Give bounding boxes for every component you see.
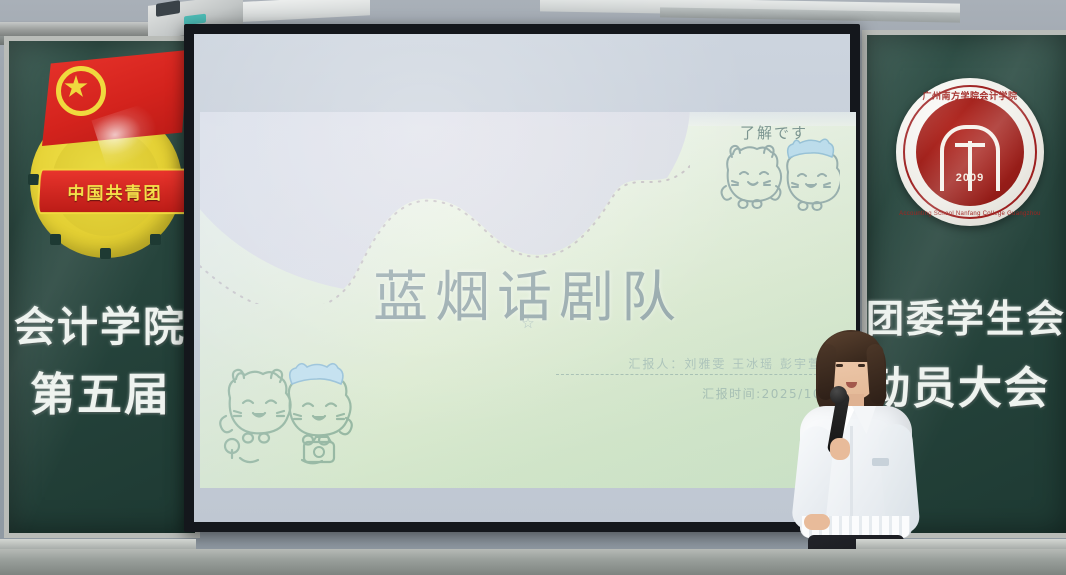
eye-left [836,364,843,367]
emblem-banner-text: 中国共青团 [67,179,163,204]
presentation-slide: 了解です [200,112,856,488]
chalk-text-left-line1: 会计学院 [14,293,186,353]
screenshot-stage: 中国共青团 会计学院 第五届 广州南方学院会计学院 Accounting Sch… [0,0,1066,575]
chalk-text-left-line2: 第五届 [30,358,171,423]
mascot-pair-top-right: 了解です [710,124,840,224]
mascot-pair-bottom-left [210,350,360,470]
crest-year: 2009 [916,172,1024,184]
chalk-ledge-right [856,539,1066,549]
slide-divider-rule [556,374,822,375]
crest-english-text: Accounting School Nanfang College Guangz… [896,211,1044,217]
communist-youth-league-emblem: 中国共青团 [12,48,192,280]
blouse-logo [872,458,889,466]
crest-core: 2009 [916,98,1024,206]
hand-holding-microphone [830,438,850,460]
chalk-ledge-left [0,539,196,549]
youth-league-star-icon [56,66,106,116]
speech-bubble-text: 了解です [740,122,808,143]
chalk-ledge [0,549,1066,575]
blouse-placket [850,426,853,530]
slide-star-icon: ☆ [200,314,856,332]
school-crest-emblem: 广州南方学院会计学院 Accounting School Nanfang Col… [896,78,1044,226]
hand-lower [804,514,830,530]
emblem-banner: 中国共青团 [37,169,194,215]
eye-right [858,364,865,367]
